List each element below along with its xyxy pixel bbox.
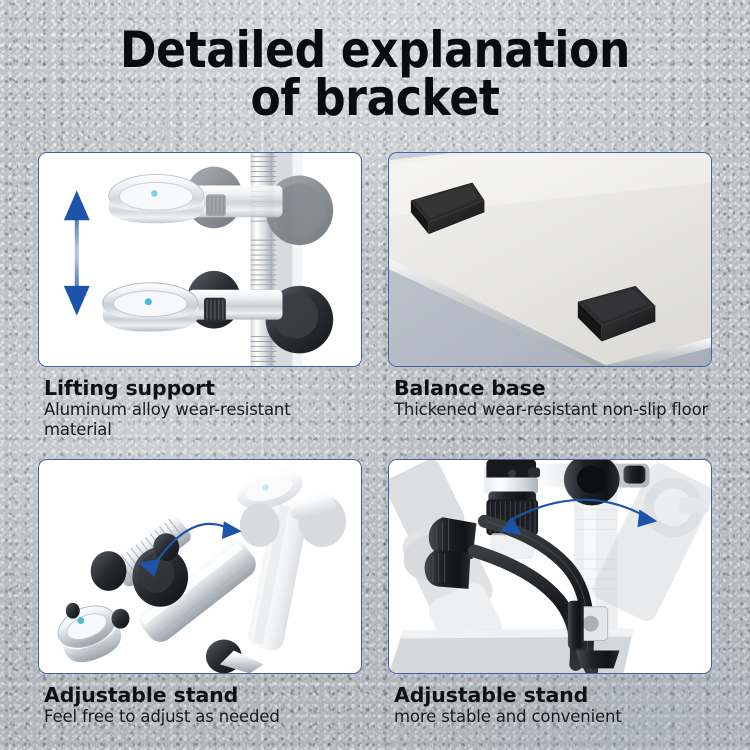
panel-balance-base	[388, 152, 712, 367]
feature-card-adjustable-stand-left: Adjustable stand Feel free to adjust as …	[38, 459, 362, 727]
page-title-line-1: Detailed explanation	[45, 26, 705, 74]
caption-adjustable-stand-right: Adjustable stand more stable and conveni…	[388, 683, 712, 727]
feature-card-lifting-support: Lifting support Aluminum alloy wear-resi…	[38, 152, 362, 439]
thumb-screw-lower	[204, 298, 226, 322]
balance-base-illustration	[389, 153, 711, 366]
feature-card-adjustable-stand-right: Adjustable stand more stable and conveni…	[388, 459, 712, 727]
thumb-screw-upper	[206, 194, 226, 216]
caption-subtext: Feel free to adjust as needed	[44, 707, 362, 727]
caption-lifting-support: Lifting support Aluminum alloy wear-resi…	[38, 376, 362, 439]
infographic-page: Detailed explanation of bracket	[0, 0, 750, 750]
page-title-line-2: of bracket	[45, 74, 705, 122]
caption-subtext: Aluminum alloy wear-resistant material	[44, 400, 362, 439]
panel-image-lifting-support	[39, 153, 361, 366]
feature-grid: Lifting support Aluminum alloy wear-resi…	[38, 152, 712, 750]
caption-heading: Adjustable stand	[44, 683, 362, 707]
adjustable-stand-illustration	[39, 460, 361, 673]
panel-adjustable-stand-left	[38, 459, 362, 674]
caption-subtext: more stable and convenient	[394, 707, 712, 727]
caption-subtext: Thickened wear-resistant non-slip floor	[394, 400, 712, 420]
panel-image-adjustable-stand-right	[389, 460, 711, 673]
caption-heading: Balance base	[394, 376, 712, 400]
page-title: Detailed explanation of bracket	[0, 26, 750, 122]
caption-heading: Lifting support	[44, 376, 362, 400]
lifting-support-illustration	[39, 153, 361, 366]
microscope-gooseneck-illustration	[389, 460, 711, 673]
panel-lifting-support	[38, 152, 362, 367]
feature-card-balance-base: Balance base Thickened wear-resistant no…	[388, 152, 712, 420]
caption-adjustable-stand-left: Adjustable stand Feel free to adjust as …	[38, 683, 362, 727]
panel-adjustable-stand-right	[388, 459, 712, 674]
panel-image-balance-base	[389, 153, 711, 366]
panel-image-adjustable-stand-left	[39, 460, 361, 673]
caption-balance-base: Balance base Thickened wear-resistant no…	[388, 376, 712, 420]
caption-heading: Adjustable stand	[394, 683, 712, 707]
